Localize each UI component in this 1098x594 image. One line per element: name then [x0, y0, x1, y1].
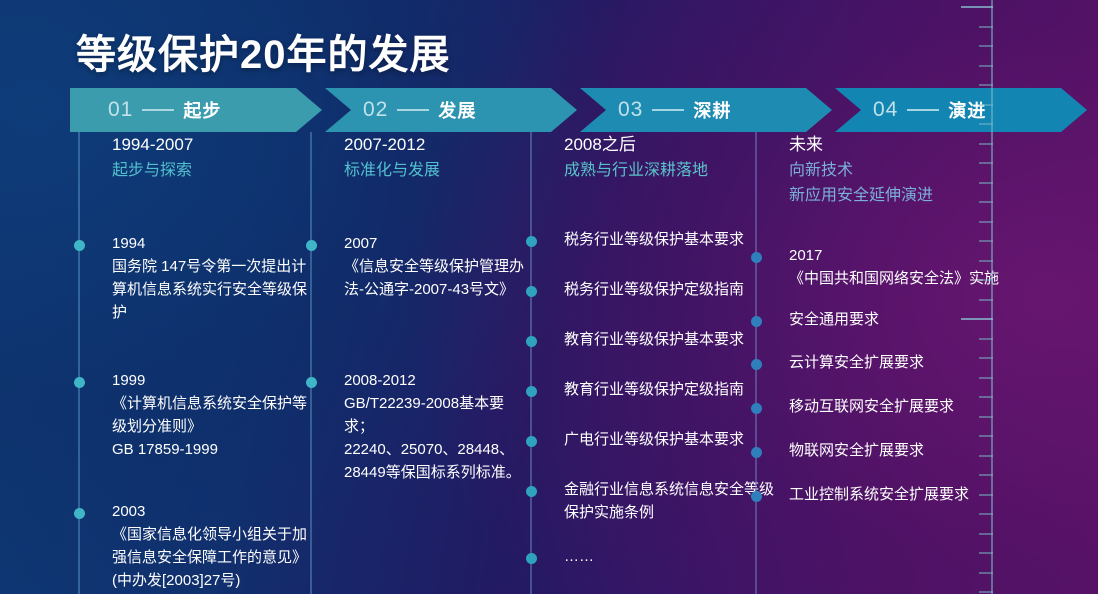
timeline-item[interactable]: 2003《国家信息化领导小组关于加强信息安全保障工作的意见》(中办发[2003]… [112, 500, 308, 592]
timeline-item[interactable]: …… [564, 545, 776, 568]
timeline-bullet-icon [74, 240, 85, 251]
timeline-item-text: 移动互联网安全扩展要求 [789, 395, 1004, 418]
timeline-item-text: GB 17859-1999 [112, 438, 308, 461]
timeline-item[interactable]: 税务行业等级保护定级指南 [564, 278, 776, 301]
timeline-bullet-icon [526, 486, 537, 497]
timeline-axis [310, 132, 312, 594]
timeline-bullet-icon [74, 508, 85, 519]
phase-number: 03 [618, 98, 643, 122]
timeline-bullet-icon [751, 447, 762, 458]
timeline-item[interactable]: 云计算安全扩展要求 [789, 351, 1004, 374]
timeline-item-year: 1999 [112, 369, 308, 392]
timeline-item[interactable]: 工业控制系统安全扩展要求 [789, 483, 1004, 506]
phase-label: 演进 [948, 97, 986, 123]
phase-chevron-04[interactable]: 04 演进 [835, 88, 1087, 132]
phase-number: 04 [873, 98, 898, 122]
timeline-item[interactable]: 2007《信息安全等级保护管理办法-公通字-2007-43号文》 [344, 232, 534, 301]
timeline-bullet-icon [306, 377, 317, 388]
ruler-tick-major [961, 6, 993, 8]
column-subtitle: 成熟与行业深耕落地 [564, 158, 708, 183]
phase-dash-icon [652, 109, 684, 111]
slide-canvas: 等级保护20年的发展 01 起步 02 发展 03 深耕 [0, 0, 1098, 594]
column-header: 2008之后 成熟与行业深耕落地 [564, 132, 708, 183]
page-title: 等级保护20年的发展 [76, 22, 451, 80]
timeline-item[interactable]: 金融行业信息系统信息安全等级保护实施条例 [564, 478, 776, 524]
phase-dash-icon [907, 109, 939, 111]
timeline-item-text: GB/T22239-2008基本要求； [344, 392, 534, 438]
column-header: 2007-2012 标准化与发展 [344, 132, 440, 183]
timeline-item-text: 税务行业等级保护基本要求 [564, 228, 776, 251]
phase-banner: 01 起步 02 发展 03 深耕 04 演进 [70, 88, 996, 132]
phase-dash-icon [397, 109, 429, 111]
timeline-item[interactable]: 教育行业等级保护定级指南 [564, 378, 776, 401]
phase-number: 01 [108, 98, 133, 122]
timeline-bullet-icon [526, 236, 537, 247]
phase-dash-icon [142, 109, 174, 111]
column-range: 2007-2012 [344, 132, 440, 158]
timeline-item-text: 《中国共和国网络安全法》实施 [789, 267, 1004, 290]
column-range: 2008之后 [564, 132, 708, 158]
timeline-item-year: 2007 [344, 232, 534, 255]
column-header: 1994-2007 起步与探索 [112, 132, 193, 183]
column-subtitle: 向新技术 [789, 158, 933, 183]
phase-label: 深耕 [693, 97, 731, 123]
phase-chevron-02[interactable]: 02 发展 [325, 88, 577, 132]
timeline-bullet-icon [526, 336, 537, 347]
timeline-bullet-icon [526, 436, 537, 447]
timeline-item-text: 《国家信息化领导小组关于加强信息安全保障工作的意见》(中办发[2003]27号) [112, 523, 308, 592]
timeline-item-year: 1994 [112, 232, 308, 255]
timeline-bullet-icon [751, 316, 762, 327]
timeline-axis [530, 132, 532, 594]
timeline-item-text: 22240、25070、28448、28449等保国标系列标准。 [344, 438, 534, 484]
column-range: 未来 [789, 132, 933, 158]
timeline-item-text: 云计算安全扩展要求 [789, 351, 1004, 374]
timeline-bullet-icon [526, 553, 537, 564]
timeline-bullet-icon [751, 403, 762, 414]
timeline-item[interactable]: 安全通用要求 [789, 308, 1004, 331]
timeline-item[interactable]: 2017《中国共和国网络安全法》实施 [789, 244, 1004, 290]
timeline-item[interactable]: 移动互联网安全扩展要求 [789, 395, 1004, 418]
timeline-item-text: 金融行业信息系统信息安全等级保护实施条例 [564, 478, 776, 524]
timeline-bullet-icon [751, 359, 762, 370]
timeline-bullet-icon [751, 491, 762, 502]
phase-number: 02 [363, 98, 388, 122]
timeline-item-text: 税务行业等级保护定级指南 [564, 278, 776, 301]
timeline-item-text: 工业控制系统安全扩展要求 [789, 483, 1004, 506]
timeline-item[interactable]: 税务行业等级保护基本要求 [564, 228, 776, 251]
phase-label: 发展 [438, 97, 476, 123]
timeline-bullet-icon [306, 240, 317, 251]
timeline-item-text: 物联网安全扩展要求 [789, 439, 1004, 462]
timeline-item-text: 《信息安全等级保护管理办法-公通字-2007-43号文》 [344, 255, 534, 301]
timeline-bullet-icon [526, 286, 537, 297]
timeline-item[interactable]: 教育行业等级保护基本要求 [564, 328, 776, 351]
column-subtitle: 起步与探索 [112, 158, 193, 183]
timeline-item-text: 教育行业等级保护基本要求 [564, 328, 776, 351]
timeline-bullet-icon [526, 386, 537, 397]
timeline-item-year: 2008-2012 [344, 369, 534, 392]
timeline-bullet-icon [74, 377, 85, 388]
timeline-item-text: 广电行业等级保护基本要求 [564, 428, 776, 451]
timeline-item-text: 安全通用要求 [789, 308, 1004, 331]
column-header: 未来 向新技术 新应用安全延伸演进 [789, 132, 933, 208]
timeline-item-text: …… [564, 545, 776, 568]
column-subtitle: 标准化与发展 [344, 158, 440, 183]
phase-chevron-03[interactable]: 03 深耕 [580, 88, 832, 132]
column-range: 1994-2007 [112, 132, 193, 158]
ruler-line [991, 0, 993, 594]
timeline-item[interactable]: 广电行业等级保护基本要求 [564, 428, 776, 451]
timeline-item-text: 教育行业等级保护定级指南 [564, 378, 776, 401]
timeline-item-year: 2003 [112, 500, 308, 523]
timeline-axis [78, 132, 80, 594]
phase-label: 起步 [183, 97, 221, 123]
timeline-item-text: 《计算机信息系统安全保护等级划分准则》 [112, 392, 308, 438]
timeline-item[interactable]: 1999《计算机信息系统安全保护等级划分准则》GB 17859-1999 [112, 369, 308, 461]
timeline-item[interactable]: 1994国务院 147号令第一次提出计算机信息系统实行安全等级保护 [112, 232, 308, 324]
phase-chevron-01[interactable]: 01 起步 [70, 88, 322, 132]
timeline-item[interactable]: 物联网安全扩展要求 [789, 439, 1004, 462]
column-subtitle-2: 新应用安全延伸演进 [789, 183, 933, 208]
timeline-bullet-icon [751, 252, 762, 263]
timeline-item-year: 2017 [789, 244, 1004, 267]
timeline-item[interactable]: 2008-2012GB/T22239-2008基本要求；22240、25070、… [344, 369, 534, 484]
timeline-item-text: 国务院 147号令第一次提出计算机信息系统实行安全等级保护 [112, 255, 308, 324]
